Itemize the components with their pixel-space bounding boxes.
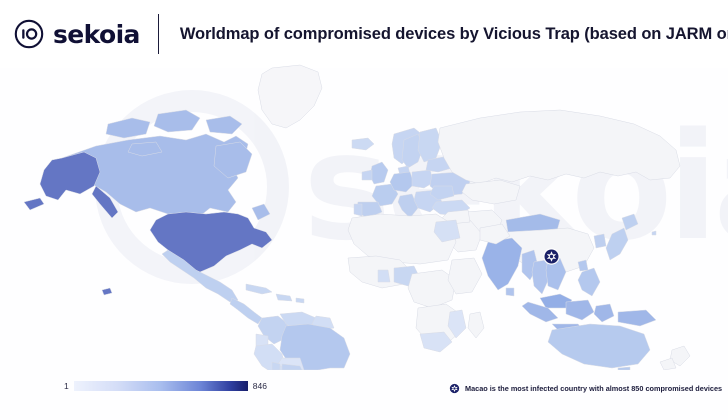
country-east-africa[interactable] xyxy=(448,258,482,294)
brand-name: sekoia xyxy=(53,22,140,47)
country-germany[interactable] xyxy=(390,172,414,192)
country-tasmania[interactable] xyxy=(618,367,630,370)
country-japan[interactable] xyxy=(606,228,628,260)
country-iceland[interactable] xyxy=(352,138,374,150)
sekoia-io-circle-logo-icon xyxy=(14,19,44,49)
country-south-korea[interactable] xyxy=(594,234,606,248)
legend-max-label: 846 xyxy=(253,382,267,391)
country-ghana[interactable] xyxy=(378,270,390,282)
country-united-kingdom[interactable] xyxy=(370,162,388,184)
legend-min-label: 1 xyxy=(64,382,69,391)
country-ecuador[interactable] xyxy=(256,334,268,346)
country-papua-new-guinea[interactable] xyxy=(618,310,656,326)
country-greenland[interactable] xyxy=(258,65,322,128)
header: sekoia Worldmap of compromised devices b… xyxy=(0,0,728,68)
legend-gradient-bar xyxy=(74,381,248,391)
country-kazakhstan[interactable] xyxy=(462,180,520,204)
country-indonesia-sulawesi[interactable] xyxy=(594,304,614,322)
footnote: Macao is the most infected country with … xyxy=(449,383,722,394)
macao-star-badge-marker-icon[interactable] xyxy=(543,248,560,265)
country-australia[interactable] xyxy=(548,324,650,368)
country-japan-north[interactable] xyxy=(622,214,638,230)
country-sri-lanka[interactable] xyxy=(506,288,514,296)
country-puerto-rico[interactable] xyxy=(296,298,304,303)
country-alaska-islands[interactable] xyxy=(24,198,44,210)
world-map: sekoia xyxy=(0,62,728,370)
country-ireland[interactable] xyxy=(362,170,372,180)
brand-logo: sekoia xyxy=(14,19,140,49)
country-hispaniola[interactable] xyxy=(276,294,292,301)
choropleth-svg xyxy=(0,62,728,370)
country-central-america[interactable] xyxy=(230,298,262,324)
country-philippines[interactable] xyxy=(578,268,600,296)
header-divider xyxy=(158,14,159,54)
country-united-states[interactable] xyxy=(150,212,272,272)
country-india[interactable] xyxy=(482,238,522,290)
country-canada-arctic-1[interactable] xyxy=(106,118,150,138)
country-russia[interactable] xyxy=(438,110,680,184)
country-canada-newfoundland[interactable] xyxy=(252,204,270,220)
color-legend: 1 846 xyxy=(64,381,267,391)
country-portugal[interactable] xyxy=(354,204,362,216)
footnote-star-badge-icon xyxy=(449,383,460,394)
country-indonesia-borneo[interactable] xyxy=(566,300,594,320)
country-canada-arctic-3[interactable] xyxy=(206,116,242,134)
country-alaska[interactable] xyxy=(40,152,100,200)
infographic-page: sekoia Worldmap of compromised devices b… xyxy=(0,0,728,420)
footnote-label: Macao is the most infected country with … xyxy=(465,385,722,392)
country-finland[interactable] xyxy=(418,128,442,162)
country-madagascar[interactable] xyxy=(468,312,484,338)
page-title: Worldmap of compromised devices by Vicio… xyxy=(180,25,728,44)
island-pacific-1[interactable] xyxy=(652,231,656,235)
country-cuba[interactable] xyxy=(246,284,272,294)
country-hawaii[interactable] xyxy=(102,288,112,295)
country-canada-arctic-2[interactable] xyxy=(154,110,200,132)
country-taiwan[interactable] xyxy=(578,260,588,271)
